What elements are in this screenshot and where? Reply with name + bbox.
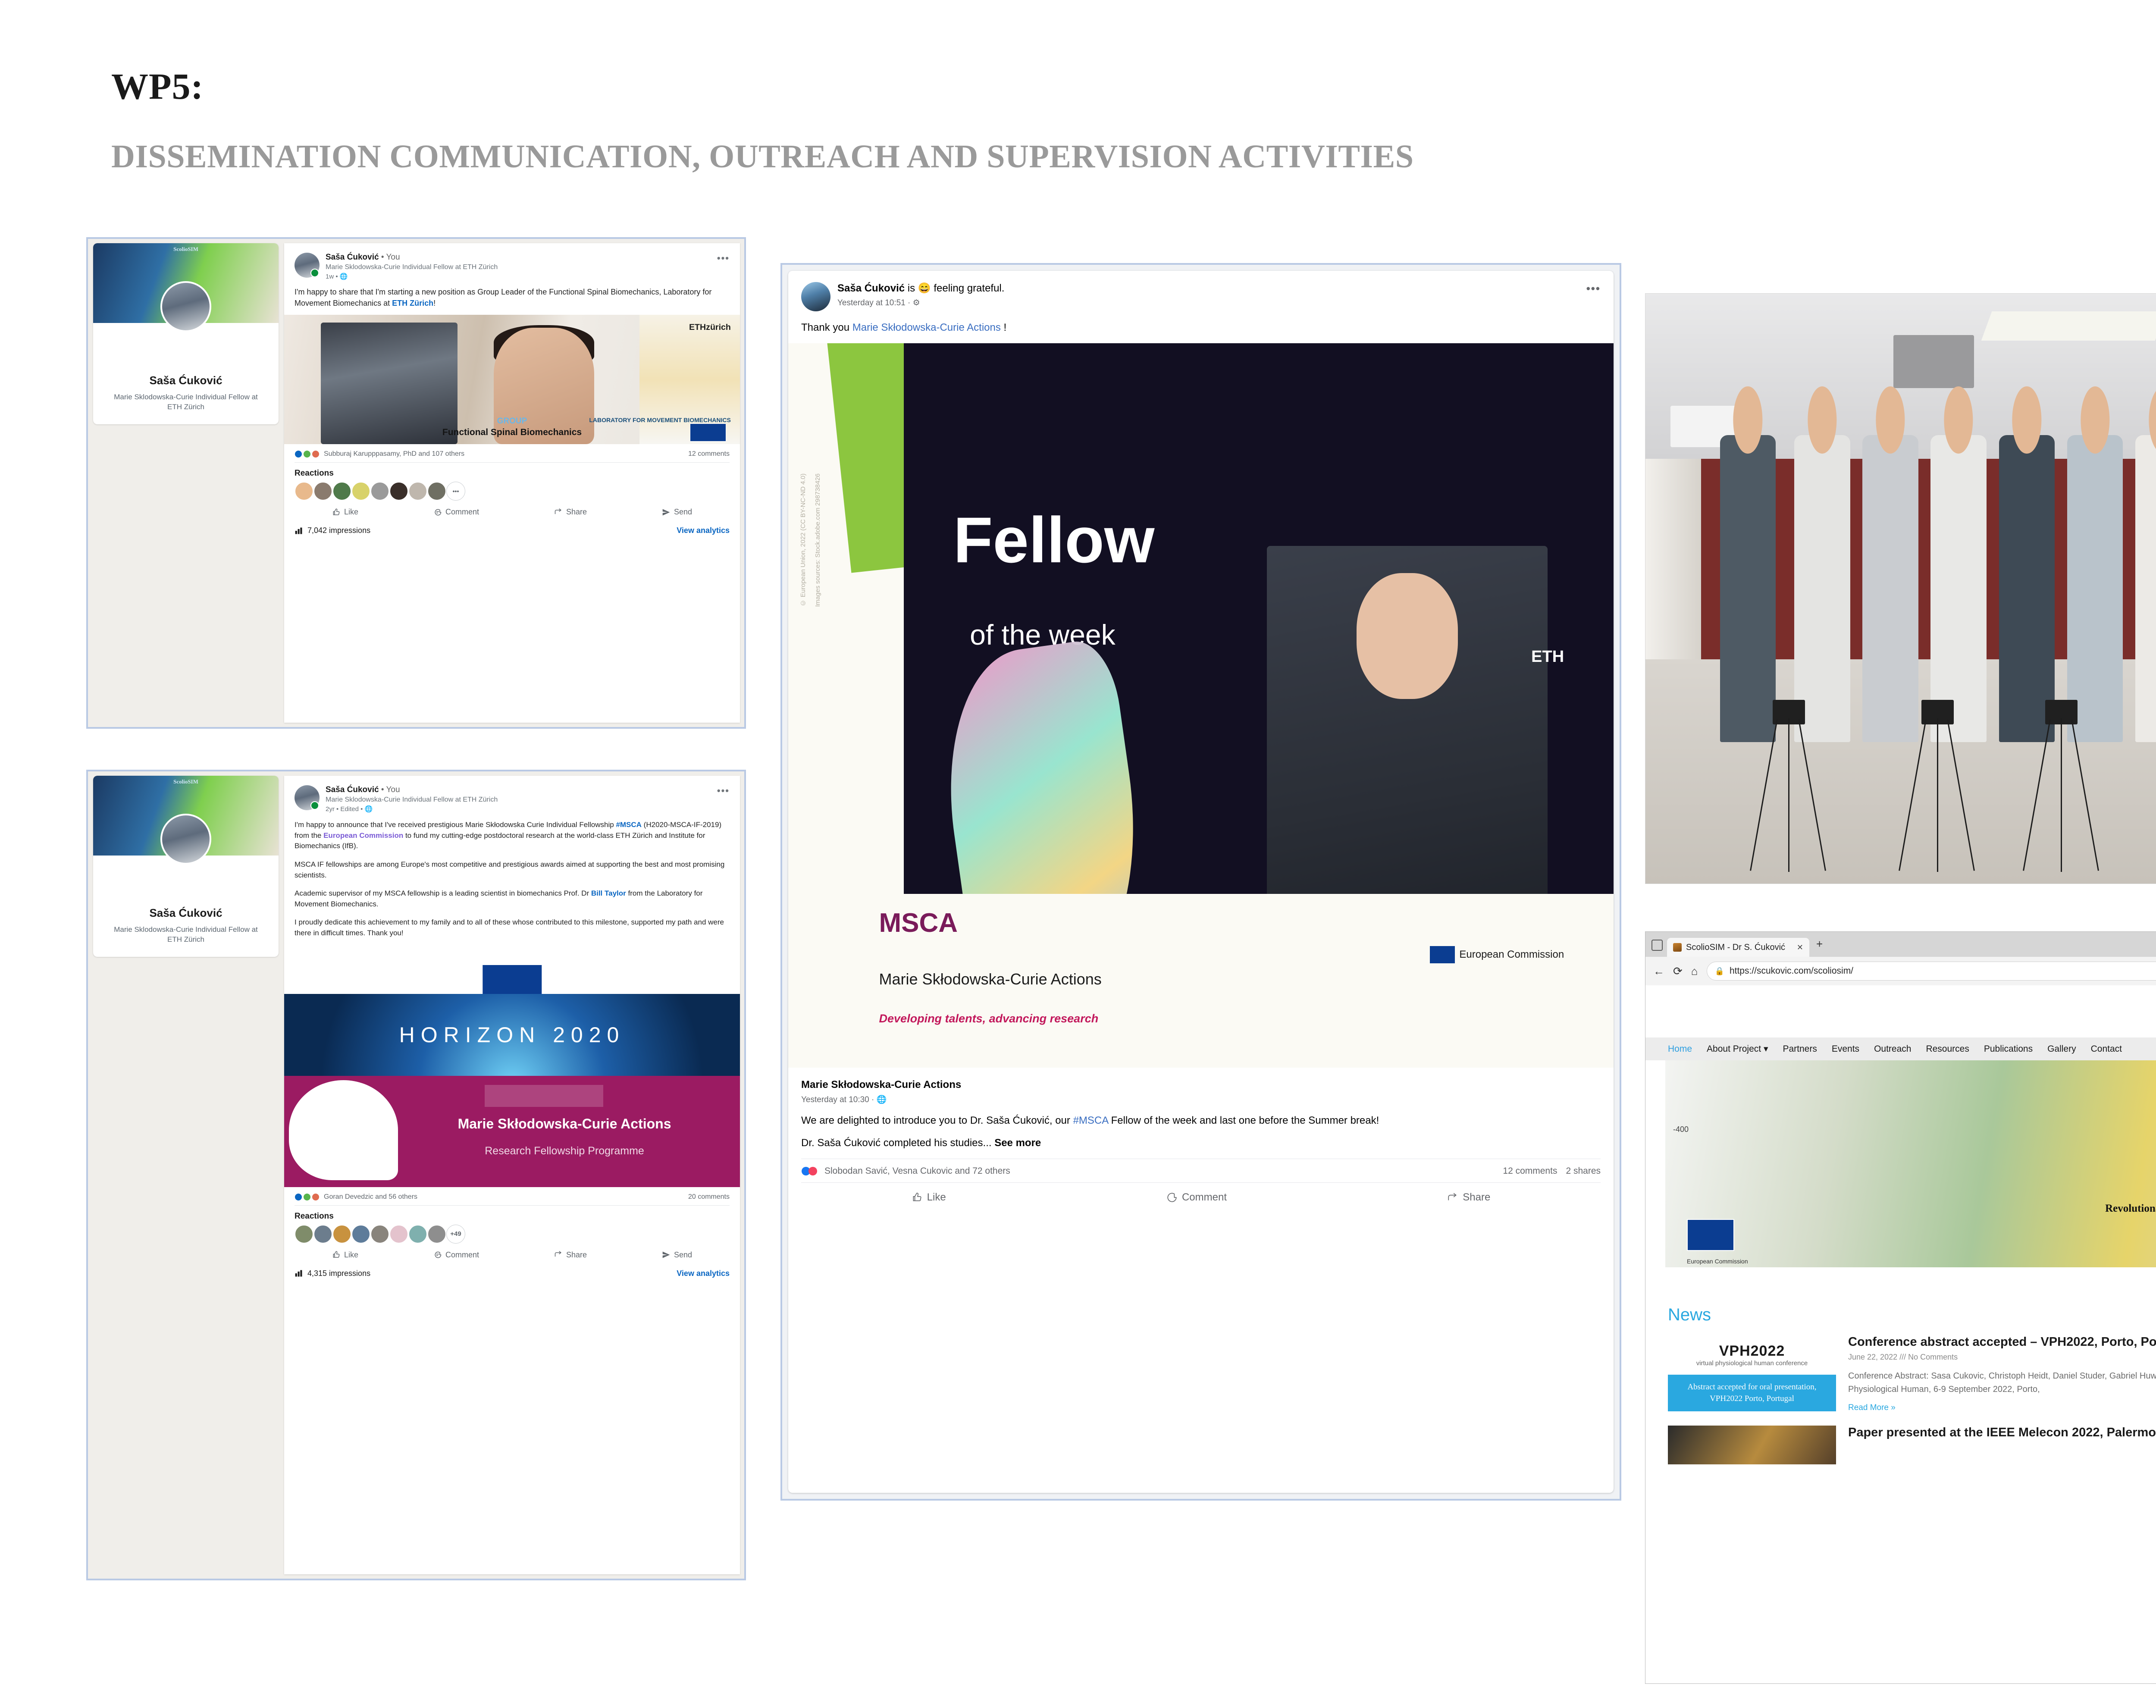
vph-logo: VPH2022 virtual physiological human conf… [1668, 1335, 1836, 1375]
avatar [160, 281, 211, 332]
european-commission-link[interactable]: European Commission [323, 831, 403, 840]
person-7 [2135, 435, 2156, 742]
post-actions-2: Like Comment Share Send [284, 1244, 740, 1263]
reactor-avatars-2: +49 [284, 1225, 740, 1244]
ec-label: European Commission [1459, 949, 1564, 961]
author-role-2: Marie Sklodowska-Curie Individual Fellow… [326, 796, 711, 804]
post-header: Saša Ćuković • You Marie Sklodowska-Curi… [284, 243, 740, 280]
impressions-count: 7,042 impressions [307, 526, 370, 535]
share-arrow-icon [1447, 1192, 1458, 1203]
post-body: I'm happy to share that I'm starting a n… [284, 280, 740, 315]
new-tab-button[interactable]: + [1816, 937, 1823, 951]
linkedin-post-2-frame: ScolioSIM Saša Ćuković Marie Sklodowska-… [86, 770, 746, 1580]
nav-gallery[interactable]: Gallery [2047, 1044, 2076, 1054]
fb-post-menu-icon[interactable]: ••• [1586, 282, 1601, 295]
author-you-badge: • You [381, 253, 400, 262]
reactor-avatar[interactable] [313, 1225, 332, 1244]
nav-resources[interactable]: Resources [1926, 1044, 1969, 1054]
like-button[interactable]: Like [332, 508, 358, 517]
comments-count[interactable]: 12 comments [688, 450, 730, 458]
close-tab-icon[interactable]: ✕ [1797, 943, 1803, 952]
profile-role: Marie Sklodowska-Curie Individual Fellow… [93, 392, 279, 412]
lock-icon: 🔒 [1715, 967, 1724, 976]
post-image-1[interactable]: ETHzürich LABORATORY FOR MOVEMENT BIOMEC… [284, 315, 740, 444]
linkedin-post-1-frame: ScolioSIM Saša Ćuković Marie Sklodowska-… [86, 237, 746, 729]
nav-publications[interactable]: Publications [1984, 1044, 2033, 1054]
fellow-title: Fellow [953, 503, 1155, 577]
fb-metrics: Slobodan Savić, Vesna Cukovic and 72 oth… [788, 1159, 1614, 1182]
author-avatar-2[interactable] [295, 785, 320, 810]
reactions-heading-2: Reactions [284, 1206, 740, 1225]
ec-mini-logo [485, 1085, 603, 1107]
reactor-avatar[interactable] [370, 1225, 389, 1244]
eu-flag-icon-3 [1430, 946, 1455, 963]
author-name-2[interactable]: Saša Ćuković [326, 785, 379, 794]
author-avatar[interactable] [295, 253, 320, 278]
comment-icon [1166, 1192, 1178, 1203]
share-arrow-icon [554, 1250, 563, 1259]
news-title-2[interactable]: Paper presented at the IEEE Melecon 2022… [1848, 1426, 2156, 1464]
reactors-summary[interactable]: Subburaj Karupppasamy, PhD and 107 other… [324, 450, 464, 458]
site-news-section: News VPH2022 virtual physiological human… [1645, 1291, 2156, 1464]
ec-logo-block: European Commission [1430, 946, 1564, 963]
eth-zurich-logo: ETHzürich [689, 323, 731, 332]
home-button[interactable]: ⌂ [1691, 965, 1698, 978]
group-label: GROUP [284, 417, 740, 426]
nav-partners[interactable]: Partners [1783, 1044, 1817, 1054]
site-social-icons [1645, 1274, 2156, 1291]
site-logo[interactable]: ScolioSIM Scoliosis 3D Simulation [1645, 985, 2156, 1032]
send-icon [662, 508, 671, 517]
news-content: Conference abstract accepted – VPH2022, … [1848, 1335, 2156, 1413]
profile-name-2: Saša Ćuković [93, 906, 279, 920]
msca-banner: Marie Skłodowska-Curie Actions Research … [284, 1076, 740, 1187]
fb-author-avatar[interactable] [801, 282, 830, 311]
reaction-icons-2 [295, 1193, 320, 1201]
post-paragraph-3: Academic supervisor of my MSCA fellowshi… [284, 882, 740, 911]
camera-tripod-3 [2030, 718, 2092, 872]
feeling-emoji-icon: 😄 [918, 282, 931, 294]
profile-name: Saša Ćuković [93, 374, 279, 387]
view-analytics-link-2[interactable]: View analytics [677, 1269, 730, 1278]
msca-subtitle: Research Fellowship Programme [403, 1145, 726, 1157]
horizon-2020-text: HORIZON 2020 [399, 1022, 625, 1047]
browser-tab[interactable]: ScolioSIM - Dr S. Ćuković ✕ [1667, 938, 1809, 957]
comments-count-2[interactable]: 20 comments [688, 1193, 730, 1201]
tab-title: ScolioSIM - Dr S. Ćuković [1686, 943, 1785, 953]
bill-taylor-link[interactable]: Bill Taylor [591, 889, 626, 897]
fb-text-a: Thank you [801, 322, 852, 333]
image-copyright-notice: © European Union, 2022 (CC BY-NC-ND 4.0) [798, 473, 808, 606]
page-subtitle: DISSEMINATION COMMUNICATION, OUTREACH AN… [111, 138, 1414, 176]
shared-text-c: Dr. Saša Ćuković completed his studies..… [801, 1137, 994, 1149]
post-image-2[interactable]: European Commission HORIZON 2020 Marie S… [284, 946, 740, 1187]
horizon-2020-banner: HORIZON 2020 [284, 994, 740, 1076]
vph-subtitle: virtual physiological human conference [1668, 1360, 1836, 1367]
news-title[interactable]: Conference abstract accepted – VPH2022, … [1848, 1335, 2156, 1349]
like-button-2[interactable]: Like [332, 1250, 358, 1260]
see-more-link[interactable]: See more [994, 1137, 1041, 1149]
hero-title: From Skin to Skeleton: [1665, 1187, 2156, 1201]
linkedin-profile-card-1[interactable]: ScolioSIM Saša Ćuković Marie Sklodowska-… [93, 243, 279, 424]
msca-full-name: Marie Skłodowska-Curie Actions [879, 970, 1102, 988]
read-more-link[interactable]: Read More » [1848, 1403, 2156, 1413]
msca-footer-block: MSCA Marie Skłodowska-Curie Actions Deve… [788, 894, 1614, 1068]
nav-outreach[interactable]: Outreach [1874, 1044, 1911, 1054]
credit-line: Images sources: Stock.adobe.com 29873842… [814, 473, 821, 607]
eth-logo: ETH [1531, 648, 1564, 666]
person-4 [1930, 435, 1986, 742]
fb-status-is: is [905, 282, 918, 294]
post-menu-icon-2[interactable]: ••• [717, 785, 730, 796]
shared-text-b: Fellow of the week and last one before t… [1108, 1115, 1379, 1126]
msca-wordmark: MSCA [879, 908, 958, 938]
person-1 [1720, 435, 1776, 742]
fellow-of-the-week-image[interactable]: Fellow of the week ETH Saša Ćuković © Eu… [788, 343, 1614, 1068]
reload-button[interactable]: ⟳ [1673, 965, 1683, 978]
post-body-link[interactable]: ETH Zürich [392, 299, 433, 307]
hero-subtitle-line2: Spinal Disorders in Adolescents [1665, 1216, 2156, 1230]
more-reactors-button[interactable]: ••• [446, 482, 465, 501]
browser-window: ScolioSIM - Dr S. Ćuković ✕ + — ▢ ✕ ← ⟳ … [1645, 931, 2156, 1684]
page-title: WP5: [111, 65, 204, 108]
eu-flag-icon-2 [483, 965, 542, 994]
news-item-2: Paper presented at the IEEE Melecon 2022… [1668, 1426, 2156, 1464]
reactor-avatar[interactable] [389, 482, 408, 501]
thumbs-up-icon [332, 508, 341, 517]
fb-comment-button[interactable]: Comment [1166, 1191, 1227, 1203]
fb-shares-count[interactable]: 2 shares [1566, 1166, 1601, 1176]
share-button[interactable]: Share [554, 508, 587, 517]
reactor-avatar[interactable] [351, 482, 370, 501]
news-item: VPH2022 virtual physiological human conf… [1668, 1335, 2156, 1413]
cover-logo-label-2: ScolioSIM [173, 778, 198, 785]
comment-button-2[interactable]: Comment [433, 1250, 479, 1260]
site-logo-tagline: Scoliosis 3D Simulation [1645, 1021, 2156, 1032]
view-analytics-link[interactable]: View analytics [677, 526, 730, 535]
news-date: June 22, 2022 /// No Comments [1848, 1353, 2156, 1362]
tab-overview-icon[interactable] [1651, 940, 1663, 951]
msca-hashtag[interactable]: #MSCA [616, 821, 642, 829]
person-5 [1999, 435, 2055, 742]
send-button[interactable]: Send [662, 508, 692, 517]
shared-msca-hashtag[interactable]: #MSCA [1073, 1115, 1108, 1126]
fellow-face [1357, 573, 1457, 699]
fb-post-header: Saša Ćuković is 😄 feeling grateful. Yest… [788, 271, 1614, 311]
hero-subtitle-line1: Revolutionary Contactless and Non-Ionizi… [1665, 1201, 2156, 1216]
site-hero-banner: -400 European Commission From Skin to Sk… [1665, 1060, 2156, 1267]
shared-page-name[interactable]: Marie Skłodowska-Curie Actions [801, 1079, 1601, 1091]
nav-contact[interactable]: Contact [2091, 1044, 2122, 1054]
fb-feeling: feeling grateful. [931, 282, 1005, 294]
reactor-avatar[interactable] [313, 482, 332, 501]
author-role: Marie Sklodowska-Curie Individual Fellow… [326, 263, 711, 271]
post-menu-icon[interactable]: ••• [717, 253, 730, 264]
address-input[interactable]: 🔒 https://scukovic.com/scoliosim/ [1707, 962, 2156, 981]
author-name[interactable]: Saša Ćuković [326, 253, 379, 262]
fb-text-b: ! [1001, 322, 1006, 333]
post-actions: Like Comment Share Send [284, 501, 740, 520]
facebook-post-frame: Saša Ćuković is 😄 feeling grateful. Yest… [780, 263, 1621, 1501]
group-title: Functional Spinal Biomechanics [284, 427, 740, 438]
share-button-2[interactable]: Share [554, 1250, 587, 1260]
post-body-tail: ! [433, 299, 436, 307]
post-timestamp-2: 2yr • Edited • 🌐 [326, 805, 711, 813]
back-button[interactable]: ← [1653, 965, 1664, 978]
more-reactors-count[interactable]: +49 [446, 1225, 465, 1244]
favicon [1673, 943, 1682, 952]
analytics-bar-icon [295, 1269, 303, 1278]
linkedin-post-1: Saša Ćuković • You Marie Sklodowska-Curi… [284, 243, 740, 723]
projector [1893, 335, 1974, 388]
post-paragraph-2: MSCA IF fellowships are among Europe's m… [284, 853, 740, 882]
post-timestamp: 1w • 🌐 [326, 273, 711, 280]
reactor-avatar[interactable] [332, 1225, 351, 1244]
avatar-2 [160, 814, 211, 865]
hero-caption: From Skin to Skeleton: Revolutionary Con… [1665, 1187, 2156, 1231]
person-6 [2067, 435, 2123, 742]
shared-text: We are delighted to introduce you to Dr.… [801, 1113, 1601, 1128]
fb-timestamp: Yesterday at 10:51 · ⚙ [837, 298, 1579, 308]
cover-logo-label: ScolioSIM [173, 246, 198, 253]
profile-role-2: Marie Sklodowska-Curie Individual Fellow… [93, 925, 279, 945]
reactor-avatar[interactable] [408, 1225, 427, 1244]
fb-author-name[interactable]: Saša Ćuković [837, 282, 905, 294]
send-button-2[interactable]: Send [662, 1250, 692, 1260]
browser-tab-bar: ScolioSIM - Dr S. Ćuković ✕ + — ▢ ✕ [1645, 932, 2156, 957]
browser-address-bar: ← ⟳ ⌂ 🔒 https://scukovic.com/scoliosim/ … [1645, 957, 2156, 985]
para3-a: Academic supervisor of my MSCA fellowshi… [295, 889, 591, 897]
news-badge: Abstract accepted for oral presentation,… [1668, 1375, 1836, 1411]
copyright-line: © European Union, 2022 (CC BY-NC-ND 4.0) [799, 473, 807, 606]
image-credit-notice: Images sources: Stock.adobe.com 29873842… [813, 473, 823, 607]
news-thumbnail[interactable]: VPH2022 virtual physiological human conf… [1668, 1335, 1836, 1413]
reactor-avatar[interactable] [408, 482, 427, 501]
browser-viewport: ScolioSIM Scoliosis 3D Simulation Home A… [1645, 985, 2156, 1683]
fb-share-button[interactable]: Share [1447, 1191, 1490, 1203]
shared-text-a: We are delighted to introduce you to Dr.… [801, 1115, 1073, 1126]
news-body-text: Conference Abstract: Sasa Cukovic, Chris… [1848, 1370, 2156, 1396]
camera-tripod-2 [1906, 718, 1968, 872]
para1-a: I'm happy to announce that I've received… [295, 821, 616, 829]
site-navigation: Home About Project ▾ Partners Events Out… [1645, 1037, 2156, 1060]
analytics-bar-icon [295, 527, 303, 535]
msca-page-link[interactable]: Marie Skłodowska-Curie Actions [852, 322, 1001, 333]
fb-reactors[interactable]: Slobodan Savić, Vesna Cukovic and 72 oth… [824, 1166, 1010, 1176]
post-impressions-row-2: 4,315 impressions View analytics [284, 1263, 740, 1278]
facebook-post: Saša Ćuković is 😄 feeling grateful. Yest… [788, 271, 1614, 1493]
fb-comments-count[interactable]: 12 comments [1503, 1166, 1557, 1176]
shared-text-2: Dr. Saša Ćuković completed his studies..… [801, 1137, 1601, 1149]
reaction-icons-fb [801, 1166, 820, 1176]
thumbs-up-icon [912, 1192, 923, 1203]
comment-icon [433, 508, 442, 517]
reactor-avatar[interactable] [351, 1225, 370, 1244]
reactor-avatar[interactable] [332, 482, 351, 501]
comment-button[interactable]: Comment [433, 508, 479, 517]
reactor-avatar[interactable] [427, 482, 446, 501]
post-metrics-2: Goran Devedzic and 56 others 20 comments [284, 1187, 740, 1205]
view-full-profile-link[interactable]: View full profile [93, 423, 279, 424]
shared-timestamp: Yesterday at 10:30 · 🌐 [801, 1094, 1601, 1105]
vph-title: VPH2022 [1668, 1343, 1836, 1360]
nav-home[interactable]: Home [1668, 1044, 1692, 1054]
nav-about-project[interactable]: About Project ▾ [1707, 1044, 1768, 1054]
post-impressions-row: 7,042 impressions View analytics [284, 520, 740, 535]
author-you-badge-2: • You [381, 785, 400, 794]
reactor-avatar[interactable] [370, 482, 389, 501]
post-body-text: I'm happy to share that I'm starting a n… [295, 288, 711, 307]
hero-eu-caption: European Commission [1687, 1258, 1748, 1265]
post-metrics: Subburaj Karupppasamy, PhD and 107 other… [284, 444, 740, 462]
linkedin-post-2: Saša Ćuković • You Marie Sklodowska-Curi… [284, 776, 740, 1574]
reactor-avatar[interactable] [295, 1225, 313, 1244]
reaction-icons [295, 450, 320, 458]
msca-slogan: Developing talents, advancing research [879, 1012, 1099, 1025]
send-icon [662, 1250, 671, 1259]
view-full-profile-link-2[interactable]: View full profile [93, 956, 279, 957]
news-heading: News [1668, 1305, 2156, 1325]
marie-curie-silhouette [289, 1080, 398, 1180]
reactors-summary-2[interactable]: Goran Devedzic and 56 others [324, 1193, 417, 1201]
thumbs-up-icon [332, 1250, 341, 1259]
share-arrow-icon [554, 508, 563, 517]
reactor-avatar[interactable] [427, 1225, 446, 1244]
comment-icon [433, 1250, 442, 1259]
news-thumbnail-2[interactable] [1668, 1426, 1836, 1464]
reactor-avatar[interactable] [389, 1225, 408, 1244]
msca-title: Marie Skłodowska-Curie Actions [403, 1116, 726, 1132]
team-group-photo [1645, 293, 2156, 884]
post-paragraph-4: I proudly dedicate this achievement to m… [284, 911, 740, 945]
fb-like-button[interactable]: Like [912, 1191, 946, 1203]
reactor-avatar[interactable] [295, 482, 313, 501]
fb-actions: Like Comment Share [788, 1183, 1614, 1211]
linkedin-profile-card-2[interactable]: ScolioSIM Saša Ćuković Marie Sklodowska-… [93, 776, 279, 957]
person-3 [1862, 435, 1918, 742]
patient-figure [494, 328, 594, 444]
person-2 [1794, 435, 1850, 742]
impressions-count-2: 4,315 impressions [307, 1269, 370, 1278]
hero-axis-label: -400 [1673, 1125, 1689, 1134]
nav-events[interactable]: Events [1832, 1044, 1859, 1054]
camera-tripod-1 [1757, 718, 1819, 872]
fb-shared-post: Marie Skłodowska-Curie Actions Yesterday… [788, 1068, 1614, 1149]
fb-post-text: Thank you Marie Skłodowska-Curie Actions… [788, 311, 1614, 343]
reactor-avatars: ••• [284, 482, 740, 501]
post-header-2: Saša Ćuković • You Marie Sklodowska-Curi… [284, 776, 740, 813]
address-text: https://scukovic.com/scoliosim/ [1730, 966, 1853, 976]
post-paragraph-1: I'm happy to announce that I've received… [284, 813, 740, 853]
reactions-heading: Reactions [284, 463, 740, 482]
ceiling-lamp [1981, 311, 2156, 341]
